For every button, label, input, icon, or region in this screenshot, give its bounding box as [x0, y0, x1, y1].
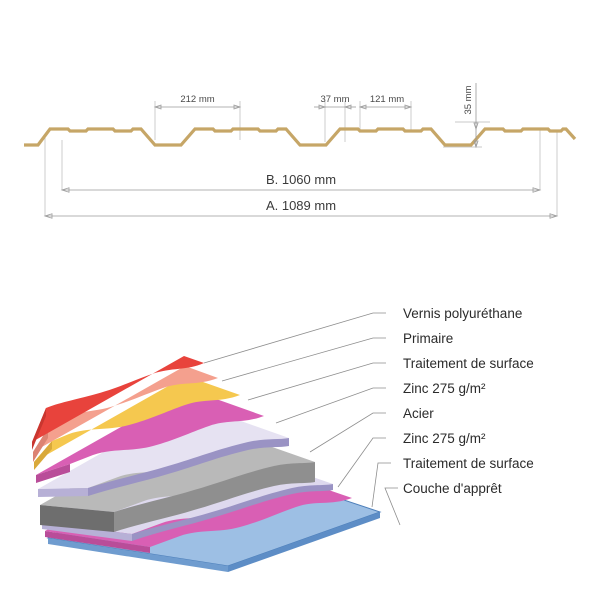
leader-line-7 — [385, 488, 400, 525]
leader-line-0 — [204, 313, 386, 363]
layer-label-5: Zinc 275 g/m² — [403, 431, 486, 446]
leader-line-4 — [310, 413, 386, 452]
layer-stack-diagram: Vernis polyuréthane Primaire Traitement … — [0, 0, 600, 600]
leader-line-3 — [276, 388, 386, 423]
leader-line-5 — [338, 438, 386, 487]
layer-label-3: Zinc 275 g/m² — [403, 381, 486, 396]
layer-label-4: Acier — [403, 406, 434, 421]
layer-label-1: Primaire — [403, 331, 453, 346]
leader-line-6 — [372, 463, 391, 507]
layer-labels: Vernis polyuréthane Primaire Traitement … — [403, 306, 534, 496]
figure-root: 212 mm 37 mm 121 mm 35 mm — [0, 0, 600, 600]
layer-label-0: Vernis polyuréthane — [403, 306, 522, 321]
layer-label-7: Couche d'apprêt — [403, 481, 502, 496]
leader-line-2 — [248, 363, 386, 400]
leader-line-1 — [222, 338, 386, 381]
layer-label-6: Traitement de surface — [403, 456, 534, 471]
layer-label-2: Traitement de surface — [403, 356, 534, 371]
